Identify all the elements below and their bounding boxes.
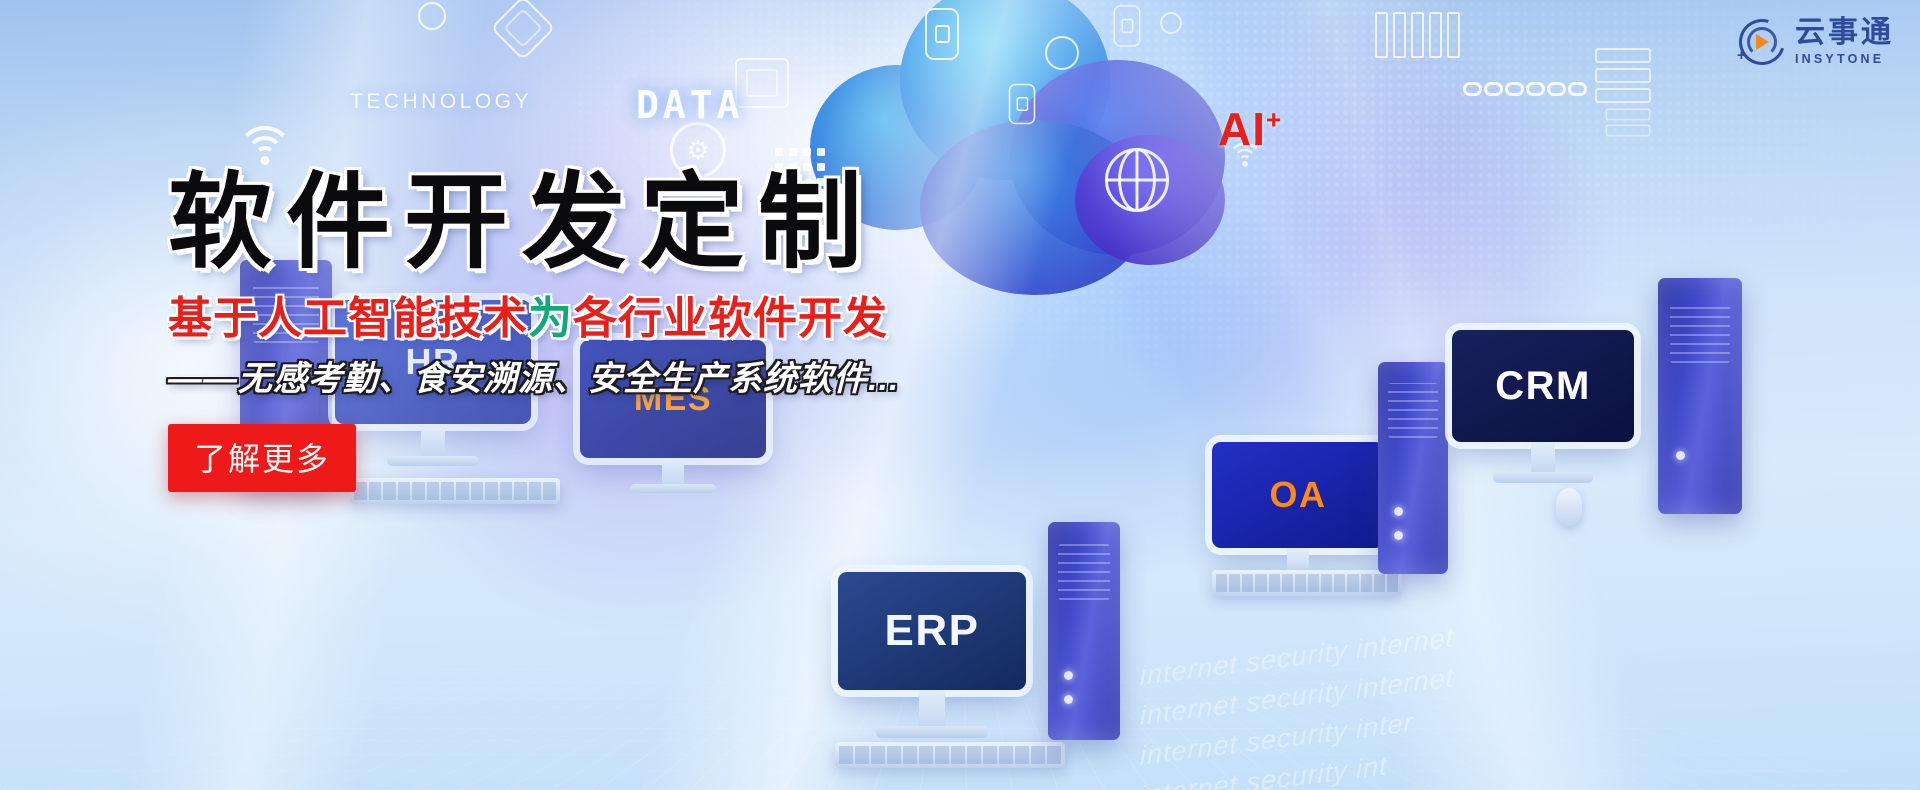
- globe-icon: [1105, 148, 1169, 212]
- hero-subtitle: 基于人工智能技术为各行业软件开发: [168, 293, 1048, 344]
- mouse: [1556, 488, 1582, 526]
- brand-logo-text: 云事通 INSYTONE: [1795, 18, 1894, 66]
- subtitle-part-2: 各行业软件开发: [573, 294, 888, 343]
- barcode-icon: [1375, 12, 1460, 58]
- server-stack-icon: [1606, 109, 1651, 137]
- pc-tower: [1378, 362, 1448, 574]
- monitor-base: [876, 726, 988, 738]
- ai-plus-label: AI+: [1218, 102, 1282, 156]
- data-label: DATA: [636, 83, 744, 127]
- device-monitor-crm: CRM: [1452, 330, 1634, 442]
- screen-label: CRM: [1452, 330, 1634, 442]
- screen-label: OA: [1212, 442, 1384, 548]
- subtitle-accent-word: 为: [528, 294, 573, 343]
- ai-superscript: +: [1266, 105, 1282, 135]
- ring-icon: [1160, 12, 1182, 34]
- monitor-base: [1493, 472, 1593, 483]
- hero-banner: ⚙ TECHNOLOGY DATA AI+ HR MES ER: [0, 0, 1920, 790]
- hero-tagline: ——无感考勤、食安溯源、安全生产系统软件...: [168, 359, 1048, 400]
- brand-name-cn: 云事通: [1795, 18, 1894, 48]
- monitor-stand: [1531, 442, 1555, 474]
- monitor-stand: [919, 690, 945, 728]
- subtitle-part-1: 基于人工智能技术: [168, 294, 528, 343]
- play-circle-logo-icon: +: [1739, 19, 1785, 65]
- server-stack-icon: [1595, 48, 1651, 103]
- blockchain-link-icon: [1463, 82, 1587, 96]
- technology-label: TECHNOLOGY: [350, 90, 532, 114]
- device-monitor-oa: OA: [1212, 442, 1384, 548]
- lock-icon: [1113, 5, 1140, 47]
- pc-tower: [1048, 522, 1120, 740]
- wifi-icon: [235, 120, 295, 166]
- lock-icon: [925, 8, 959, 60]
- keyboard: [1212, 570, 1402, 596]
- hexagon-outline-icon: [500, 5, 546, 51]
- device-monitor-erp: ERP: [838, 572, 1026, 690]
- brand-name-en: INSYTONE: [1795, 53, 1894, 66]
- learn-more-button[interactable]: 了解更多: [168, 424, 356, 492]
- pc-tower: [1658, 278, 1742, 514]
- ring-icon: [418, 2, 446, 30]
- brand-logo[interactable]: + 云事通 INSYTONE: [1739, 18, 1894, 66]
- ai-text: AI: [1218, 103, 1266, 155]
- ring-icon: [1045, 36, 1079, 70]
- lock-icon: [1009, 84, 1036, 125]
- keyboard: [835, 742, 1065, 768]
- screen-label: ERP: [838, 572, 1026, 690]
- page-title: 软件开发定制: [168, 168, 1048, 277]
- hero-copy: 软件开发定制 基于人工智能技术为各行业软件开发 ——无感考勤、食安溯源、安全生产…: [168, 168, 1048, 492]
